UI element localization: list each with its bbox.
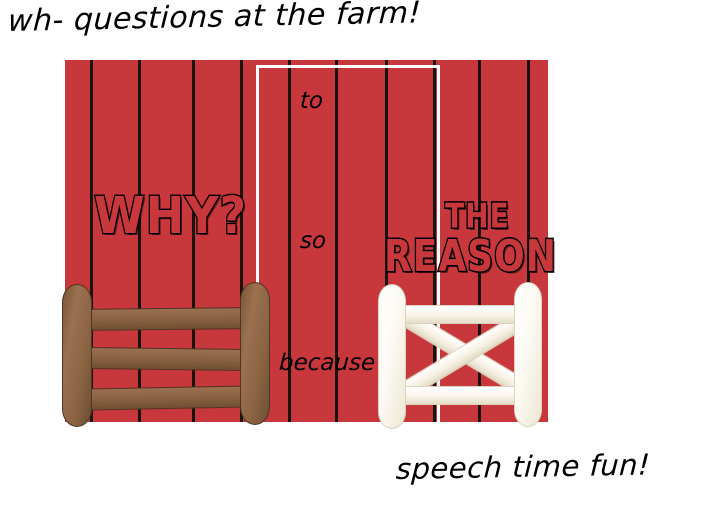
fence-rail	[84, 307, 252, 331]
door-word-to: to	[299, 88, 323, 114]
gate-post	[514, 282, 542, 427]
page-title: wh- questions at the farm!	[7, 0, 422, 39]
gate-rail	[398, 305, 528, 324]
footer-branding: speech time fun!	[395, 448, 651, 486]
wooden-fence-left	[62, 282, 270, 427]
the-reason-heading: THE REASON	[398, 200, 557, 279]
fence-post	[62, 284, 92, 427]
gate-post	[378, 284, 406, 429]
fence-rail	[84, 347, 252, 371]
fence-rail	[84, 385, 252, 410]
the-reason-line2: REASON	[384, 236, 557, 279]
why-heading: WHY?	[94, 190, 247, 241]
fence-post	[240, 282, 270, 425]
gate-rail	[398, 386, 528, 405]
door-word-so: so	[299, 228, 326, 254]
white-gate-right	[378, 282, 548, 430]
door-word-because: because	[278, 350, 376, 376]
the-reason-line1: THE	[445, 196, 510, 236]
